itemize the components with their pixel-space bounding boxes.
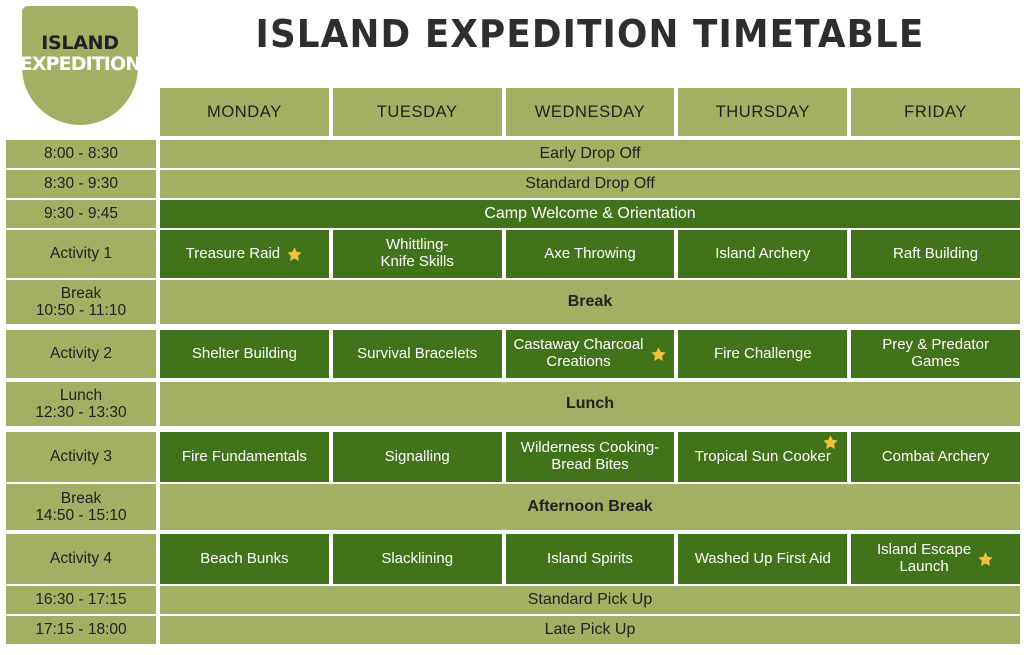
day-header-thursday: THURSDAY xyxy=(678,88,847,136)
activity-label: Fire Challenge xyxy=(714,346,812,363)
merged-session-label: Late Pick Up xyxy=(545,621,636,639)
activity-cell-content: Prey & Predator Games xyxy=(882,337,989,371)
timetable-row: Activity 4Beach BunksSlackliningIsland S… xyxy=(0,534,1026,584)
activity-cell-content: Wilderness Cooking- Bread Bites xyxy=(521,440,659,474)
activity-cell[interactable]: Shelter Building xyxy=(160,330,329,378)
timetable-grid: MONDAYTUESDAYWEDNESDAYTHURSDAYFRIDAY8:00… xyxy=(0,0,1026,655)
activity-cell-content: Signalling xyxy=(385,449,450,466)
activity-cell-content: Shelter Building xyxy=(192,346,297,363)
row-time-label: Activity 2 xyxy=(6,330,156,378)
activity-cell[interactable]: Washed Up First Aid xyxy=(678,534,847,584)
activity-cell[interactable]: Survival Bracelets xyxy=(333,330,502,378)
activity-label: Prey & Predator Games xyxy=(882,337,989,371)
activity-cell[interactable]: Treasure Raid xyxy=(160,230,329,278)
day-header-monday: MONDAY xyxy=(160,88,329,136)
timetable-row: Lunch 12:30 - 13:30Lunch xyxy=(0,382,1026,426)
activity-cell[interactable]: Island Archery xyxy=(678,230,847,278)
day-header-label: TUESDAY xyxy=(377,103,458,121)
activity-label: Beach Bunks xyxy=(200,551,288,568)
activity-cell[interactable]: Beach Bunks xyxy=(160,534,329,584)
activity-cell-content: Combat Archery xyxy=(882,449,990,466)
day-header-label: MONDAY xyxy=(207,103,282,121)
activity-label: Island Archery xyxy=(715,246,810,263)
activity-label: Fire Fundamentals xyxy=(182,449,307,466)
activity-cell[interactable]: Island Escape Launch xyxy=(851,534,1020,584)
merged-session-label: Standard Drop Off xyxy=(525,175,655,193)
activity-cell[interactable]: Whittling- Knife Skills xyxy=(333,230,502,278)
star-icon xyxy=(650,346,667,363)
timetable-row: Activity 1Treasure RaidWhittling- Knife … xyxy=(0,230,1026,278)
day-header-label: FRIDAY xyxy=(904,103,967,121)
timetable-row: Activity 3Fire FundamentalsSignallingWil… xyxy=(0,432,1026,482)
row-time-label: 9:30 - 9:45 xyxy=(6,200,156,228)
activity-cell-content: Fire Challenge xyxy=(714,346,812,363)
star-icon xyxy=(822,434,839,451)
activity-label: Raft Building xyxy=(893,246,978,263)
activity-cell[interactable]: Combat Archery xyxy=(851,432,1020,482)
activity-cell-content: Island Escape Launch xyxy=(877,542,994,576)
activity-label: Axe Throwing xyxy=(544,246,635,263)
day-header-wednesday: WEDNESDAY xyxy=(506,88,675,136)
activity-cell-content: Beach Bunks xyxy=(200,551,288,568)
activity-cell-content: Raft Building xyxy=(893,246,978,263)
merged-session-label: Camp Welcome & Orientation xyxy=(484,205,695,223)
row-time-label: Break 10:50 - 11:10 xyxy=(6,280,156,324)
activity-label: Slacklining xyxy=(381,551,453,568)
row-time-label: 16:30 - 17:15 xyxy=(6,586,156,614)
activity-cell-content: Survival Bracelets xyxy=(357,346,477,363)
activity-cell[interactable]: Tropical Sun Cooker xyxy=(678,432,847,482)
activity-label: Island Spirits xyxy=(547,551,633,568)
timetable-row: 8:30 - 9:30Standard Drop Off xyxy=(0,170,1026,198)
merged-session-cell[interactable]: Lunch xyxy=(160,382,1020,426)
activity-cell-content: Island Spirits xyxy=(547,551,633,568)
timetable-page: ISLAND EXPEDITION ISLAND EXPEDITION TIME… xyxy=(0,0,1026,655)
row-time-label: 8:00 - 8:30 xyxy=(6,140,156,168)
activity-cell[interactable]: Castaway Charcoal Creations xyxy=(506,330,675,378)
day-header-row: MONDAYTUESDAYWEDNESDAYTHURSDAYFRIDAY xyxy=(0,88,1026,136)
merged-session-cell[interactable]: Afternoon Break xyxy=(160,484,1020,530)
merged-session-cell[interactable]: Standard Drop Off xyxy=(160,170,1020,198)
row-time-label: Activity 1 xyxy=(6,230,156,278)
merged-session-label: Standard Pick Up xyxy=(528,591,653,609)
day-header-friday: FRIDAY xyxy=(851,88,1020,136)
merged-session-cell[interactable]: Break xyxy=(160,280,1020,324)
activity-cell-content: Castaway Charcoal Creations xyxy=(513,337,666,371)
activity-cell[interactable]: Raft Building xyxy=(851,230,1020,278)
merged-session-label: Break xyxy=(568,293,612,311)
activity-cell[interactable]: Slacklining xyxy=(333,534,502,584)
activity-label: Whittling- Knife Skills xyxy=(381,237,454,271)
activity-cell[interactable]: Axe Throwing xyxy=(506,230,675,278)
activity-cell[interactable]: Wilderness Cooking- Bread Bites xyxy=(506,432,675,482)
activity-cell-content: Tropical Sun Cooker xyxy=(695,449,831,466)
activity-label: Treasure Raid xyxy=(186,246,280,263)
row-time-label: Break 14:50 - 15:10 xyxy=(6,484,156,530)
activity-label: Shelter Building xyxy=(192,346,297,363)
activity-cell-content: Island Archery xyxy=(715,246,810,263)
merged-session-cell[interactable]: Late Pick Up xyxy=(160,616,1020,644)
header-corner-spacer xyxy=(6,88,156,136)
row-time-label: Lunch 12:30 - 13:30 xyxy=(6,382,156,426)
activity-label: Washed Up First Aid xyxy=(695,551,831,568)
timetable-row: 16:30 - 17:15Standard Pick Up xyxy=(0,586,1026,614)
activity-cell-content: Washed Up First Aid xyxy=(695,551,831,568)
merged-session-label: Early Drop Off xyxy=(539,145,640,163)
activity-cell[interactable]: Fire Fundamentals xyxy=(160,432,329,482)
activity-label: Castaway Charcoal Creations xyxy=(513,337,643,371)
merged-session-cell[interactable]: Standard Pick Up xyxy=(160,586,1020,614)
star-icon xyxy=(286,246,303,263)
activity-label: Wilderness Cooking- Bread Bites xyxy=(521,440,659,474)
star-icon xyxy=(977,551,994,568)
activity-cell[interactable]: Signalling xyxy=(333,432,502,482)
timetable-row: Break 10:50 - 11:10Break xyxy=(0,280,1026,324)
row-time-label: Activity 4 xyxy=(6,534,156,584)
timetable-row: Activity 2Shelter BuildingSurvival Brace… xyxy=(0,330,1026,378)
activity-cell-content: Axe Throwing xyxy=(544,246,635,263)
activity-cell[interactable]: Fire Challenge xyxy=(678,330,847,378)
timetable-row: 8:00 - 8:30Early Drop Off xyxy=(0,140,1026,168)
timetable-row: 17:15 - 18:00Late Pick Up xyxy=(0,616,1026,644)
merged-session-cell[interactable]: Camp Welcome & Orientation xyxy=(160,200,1020,228)
activity-cell-content: Fire Fundamentals xyxy=(182,449,307,466)
row-time-label: 17:15 - 18:00 xyxy=(6,616,156,644)
activity-cell-content: Whittling- Knife Skills xyxy=(381,237,454,271)
activity-cell-content: Treasure Raid xyxy=(186,246,303,263)
timetable-row: Break 14:50 - 15:10Afternoon Break xyxy=(0,484,1026,530)
merged-session-label: Afternoon Break xyxy=(527,498,652,516)
activity-label: Signalling xyxy=(385,449,450,466)
activity-label: Combat Archery xyxy=(882,449,990,466)
activity-cell[interactable]: Island Spirits xyxy=(506,534,675,584)
merged-session-cell[interactable]: Early Drop Off xyxy=(160,140,1020,168)
day-header-label: THURSDAY xyxy=(716,103,810,121)
activity-label: Island Escape Launch xyxy=(877,542,971,576)
activity-cell-content: Slacklining xyxy=(381,551,453,568)
day-header-label: WEDNESDAY xyxy=(535,103,646,121)
row-time-label: 8:30 - 9:30 xyxy=(6,170,156,198)
activity-label: Survival Bracelets xyxy=(357,346,477,363)
activity-cell[interactable]: Prey & Predator Games xyxy=(851,330,1020,378)
timetable-row: 9:30 - 9:45Camp Welcome & Orientation xyxy=(0,200,1026,228)
merged-session-label: Lunch xyxy=(566,395,614,413)
day-header-tuesday: TUESDAY xyxy=(333,88,502,136)
activity-label: Tropical Sun Cooker xyxy=(695,449,831,466)
row-time-label: Activity 3 xyxy=(6,432,156,482)
